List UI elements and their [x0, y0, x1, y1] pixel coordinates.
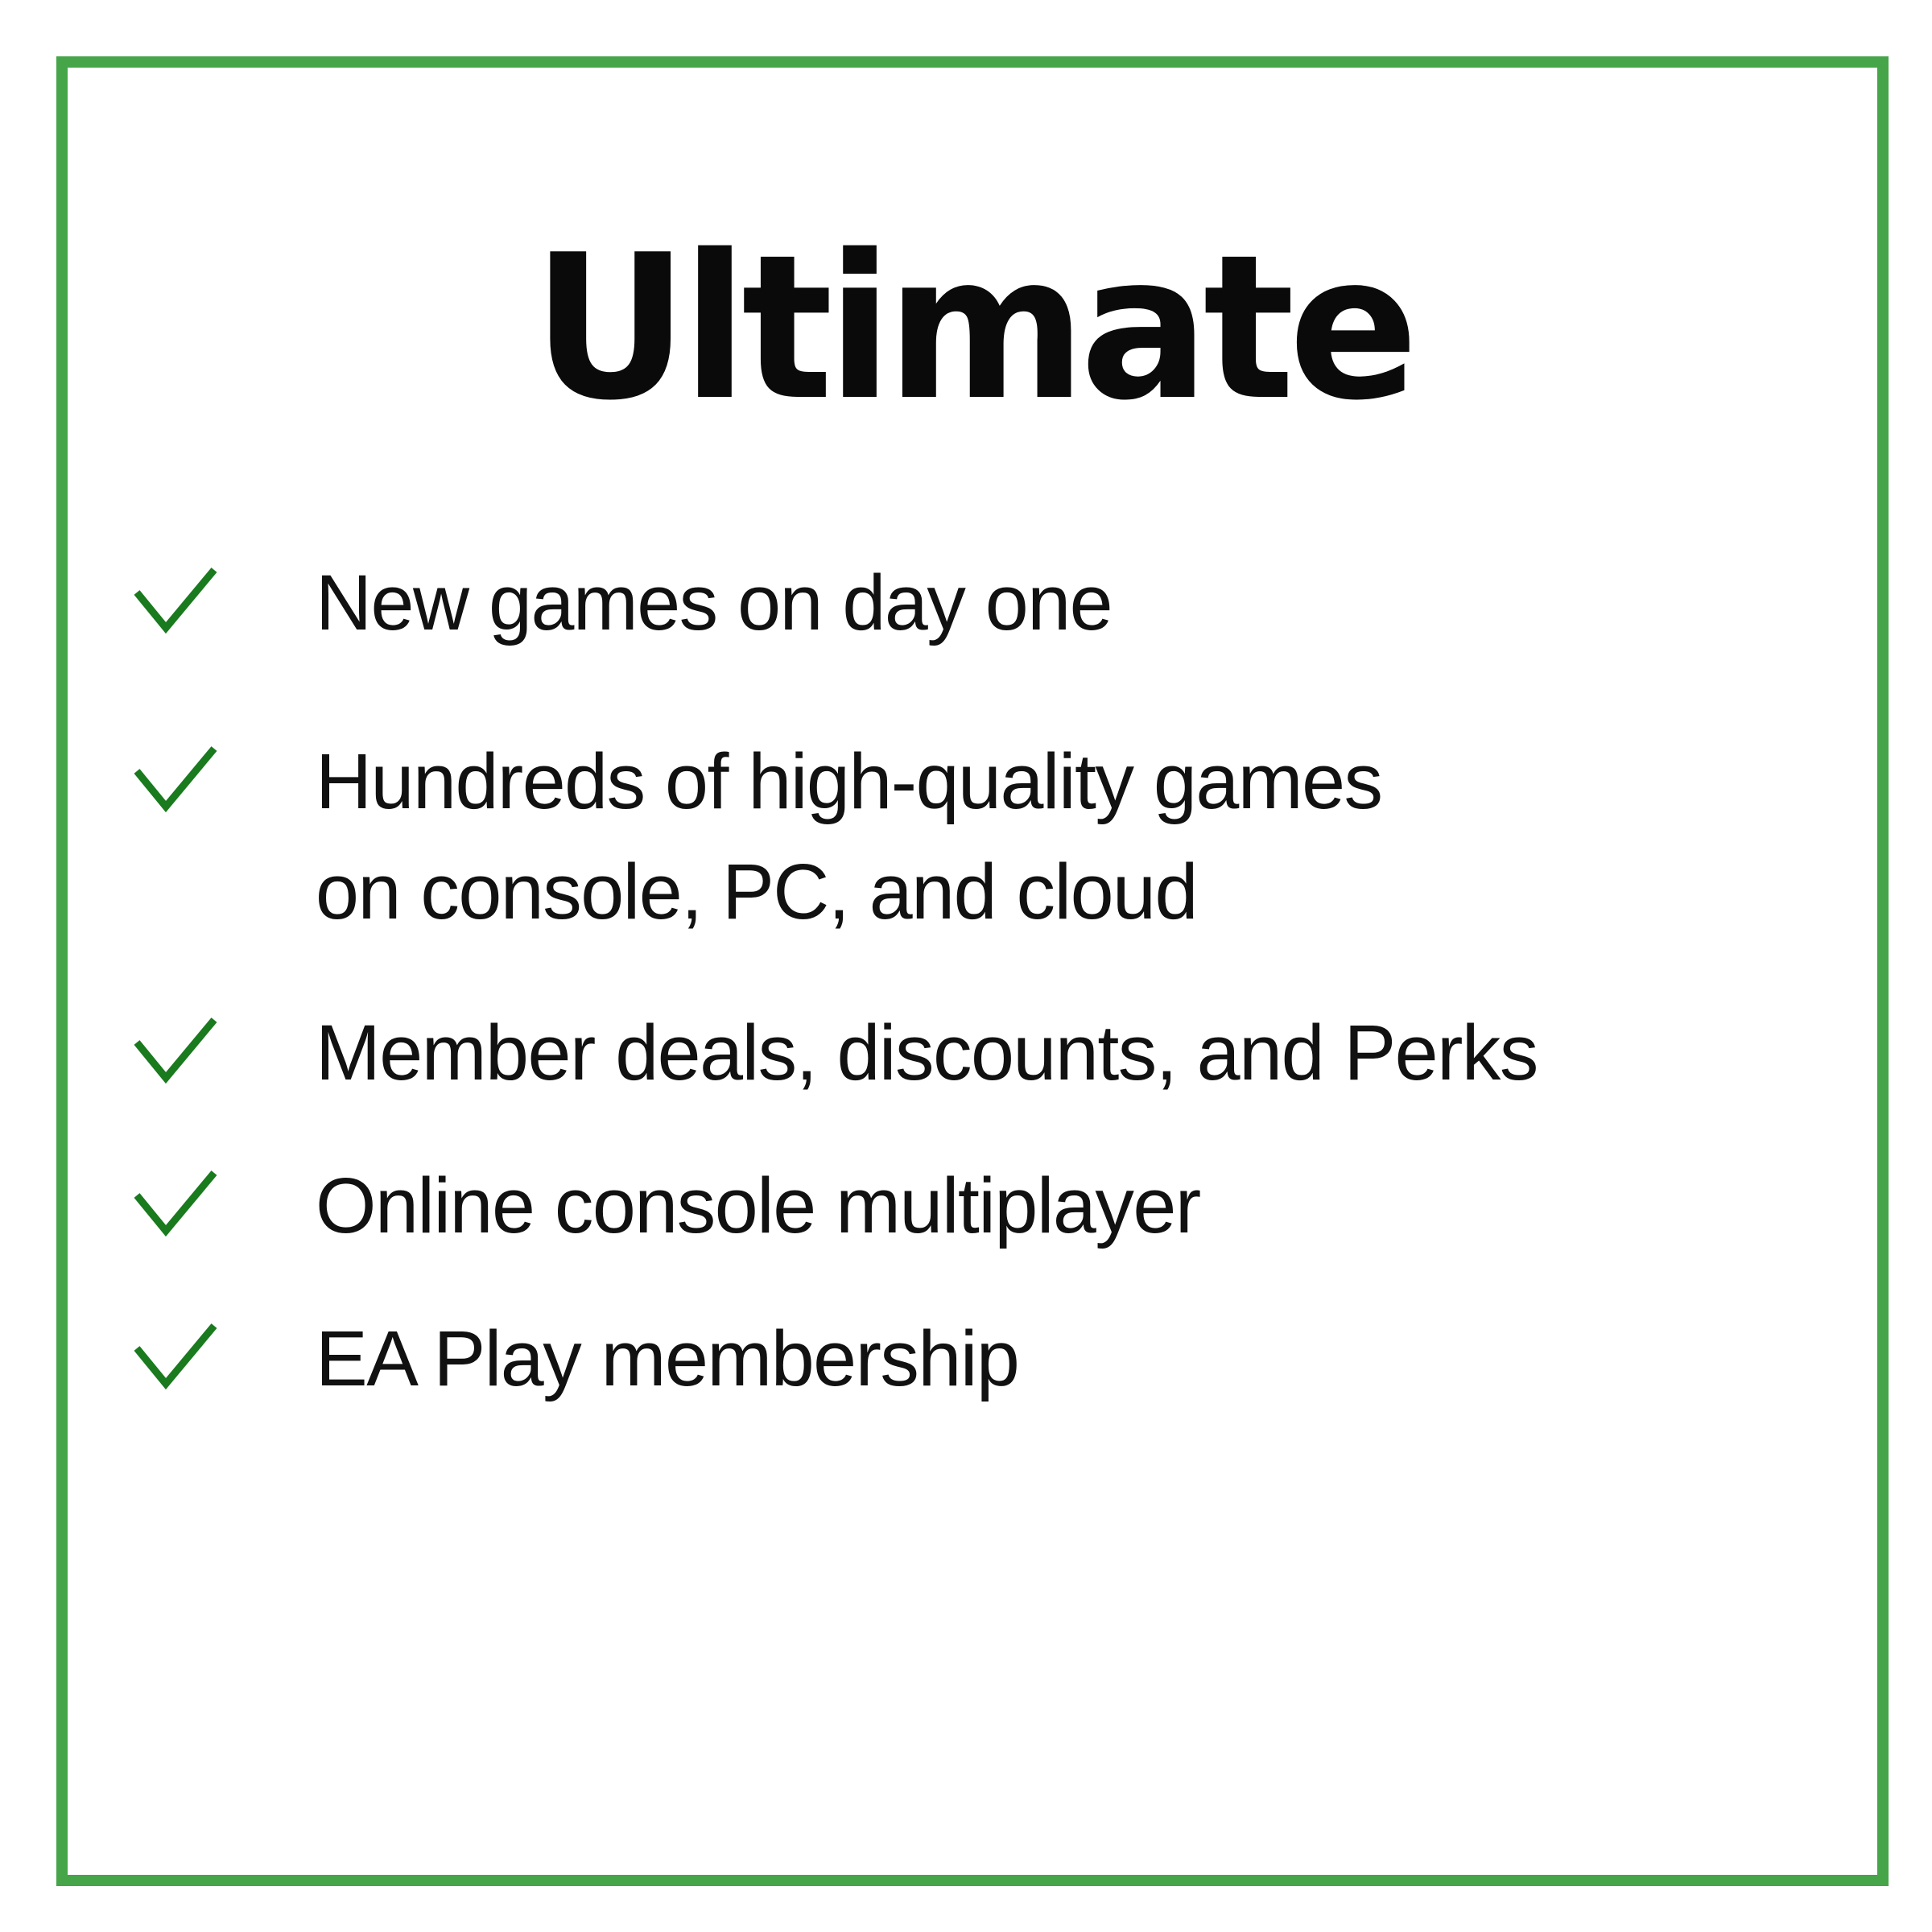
check-icon [132, 741, 219, 818]
check-icon [132, 1165, 219, 1242]
feature-label: New games on day one [316, 547, 1877, 658]
list-item: EA Play membership [68, 1303, 1877, 1414]
membership-plan-card: Ultimate New games on day one Hundreds o… [56, 56, 1889, 1886]
list-item: New games on day one [68, 547, 1877, 658]
feature-label: Member deals, discounts, and Perks [316, 997, 1877, 1108]
check-icon [132, 562, 219, 639]
feature-label: EA Play membership [316, 1303, 1877, 1414]
check-cell [68, 1303, 316, 1395]
list-item: Hundreds of high-quality games on consol… [68, 726, 1877, 947]
check-icon [132, 1318, 219, 1395]
check-cell [68, 1150, 316, 1242]
check-cell [68, 997, 316, 1089]
check-icon [132, 1012, 219, 1089]
check-cell [68, 726, 316, 818]
feature-label: Hundreds of high-quality games on consol… [316, 726, 1877, 947]
check-cell [68, 547, 316, 639]
page-title: Ultimate [104, 229, 1841, 428]
list-item: Online console multiplayer [68, 1150, 1877, 1261]
list-item: Member deals, discounts, and Perks [68, 997, 1877, 1108]
feature-label: Online console multiplayer [316, 1150, 1877, 1261]
feature-list: New games on day one Hundreds of high-qu… [68, 547, 1877, 1414]
